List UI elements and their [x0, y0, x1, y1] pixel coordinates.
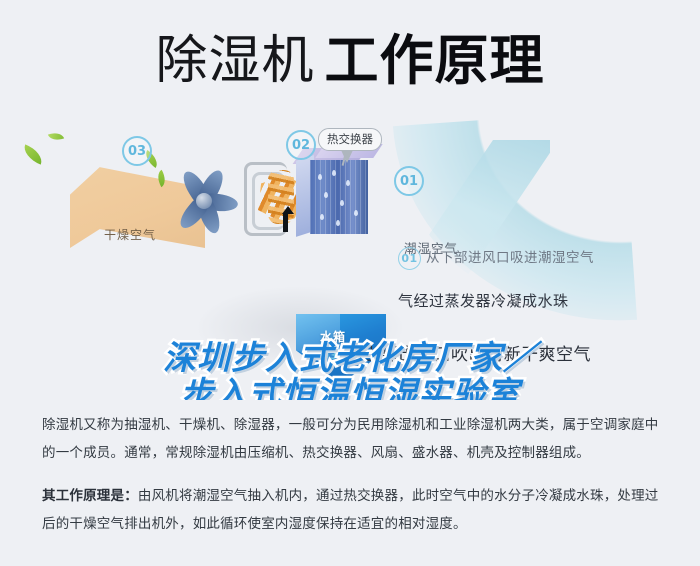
principle-illustration: 干燥空气	[0, 118, 700, 400]
heat-exchanger-callout: 热交换器	[318, 128, 382, 151]
airflow-arrow-up-icon	[283, 214, 288, 232]
compressor-coil-icon	[268, 170, 294, 224]
caption-03: 03从上部出风口吹出清新干爽空气	[318, 340, 591, 367]
dry-air-label: 干燥空气	[104, 226, 156, 243]
leaf-icon	[20, 144, 45, 164]
paragraph-2-lead: 其工作原理是：	[42, 488, 138, 504]
page-title-part-a: 除湿机	[155, 35, 314, 87]
badge-02: 02	[286, 130, 316, 160]
paragraph-2: 其工作原理是：由风机将潮湿空气抽入机内，通过热交换器，此时空气中的水分子冷凝成水…	[42, 483, 662, 538]
page-root: 除湿机 工作原理 干燥空气	[0, 0, 700, 566]
badge-03: 03	[122, 136, 152, 166]
leaf-icon	[48, 130, 64, 143]
badge-01: 01	[394, 166, 424, 196]
caption-01: 01从下部进风口吸进潮湿空气	[398, 246, 594, 270]
caption-03-number: 03	[318, 344, 341, 367]
caption-01-text: 从下部进风口吸进潮湿空气	[426, 250, 594, 266]
article-body: 除湿机又称为抽湿机、干燥机、除湿器，一般可分为民用除湿机和工业除湿机两大类，属于…	[42, 412, 662, 551]
caption-02: 气经过蒸发器冷凝成水珠	[398, 290, 569, 311]
paragraph-1: 除湿机又称为抽湿机、干燥机、除湿器，一般可分为民用除湿机和工业除湿机两大类，属于…	[42, 412, 662, 467]
page-title: 除湿机 工作原理	[0, 22, 700, 100]
caption-02-text: 气经过蒸发器冷凝成水珠	[398, 292, 569, 310]
fan-icon	[166, 162, 242, 240]
caption-01-number: 01	[398, 247, 421, 270]
caption-03-text: 从上部出风口吹出清新干爽空气	[346, 345, 591, 365]
page-title-part-b: 工作原理	[325, 34, 545, 88]
condensation-drops	[312, 166, 366, 228]
